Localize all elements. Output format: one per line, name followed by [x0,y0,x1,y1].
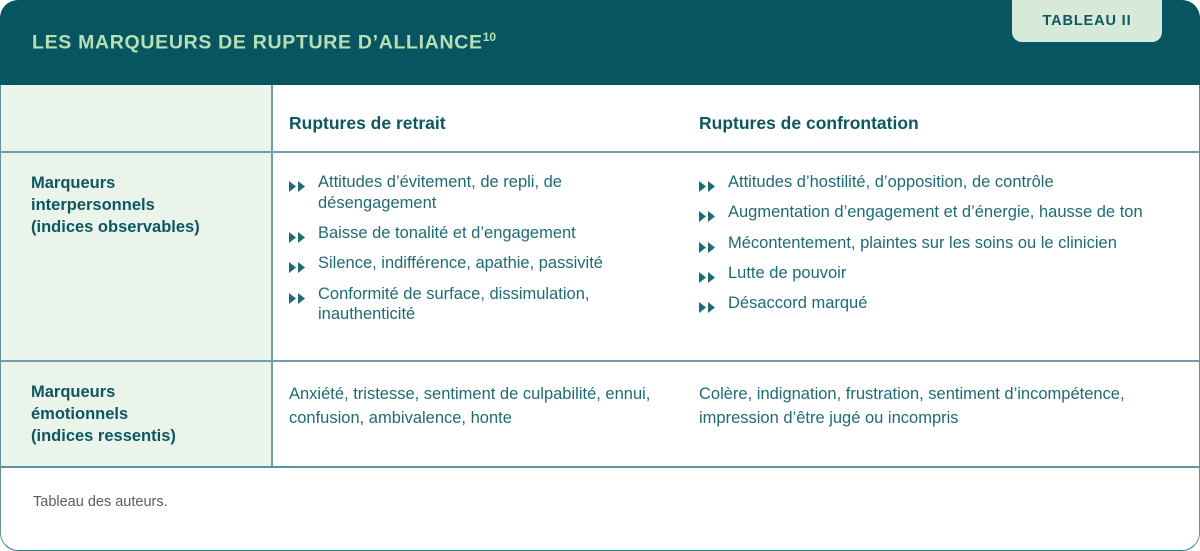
table-row: Marqueurs interpersonnels (indices obser… [1,151,1199,360]
list-item-text: Augmentation d’engagement et d’énergie, … [728,203,1143,221]
list-item-text: Mécontentement, plaintes sur les soins o… [728,234,1117,252]
double-chevron-right-icon [699,298,718,309]
list-item: Désaccord marqué [699,293,1183,314]
bullet-list-confrontation: Attitudes d’hostilité, d’opposition, de … [681,172,1200,314]
double-chevron-right-icon [699,177,718,188]
table-number-badge-label: TABLEAU II [1043,13,1132,29]
list-item-text: Lutte de pouvoir [728,264,846,282]
list-item: Attitudes d’évitement, de repli, de dése… [289,172,663,214]
list-item-text: Attitudes d’évitement, de repli, de dése… [318,173,562,212]
bullet-list-retrait: Attitudes d’évitement, de repli, de dése… [271,172,681,325]
list-item: Lutte de pouvoir [699,263,1183,284]
row-label-line: interpersonnels [31,195,271,217]
table-grid: Ruptures de retrait Ruptures de confront… [1,85,1199,550]
source-note: Tableau des auteurs. [33,494,168,510]
list-item-text: Désaccord marqué [728,294,867,312]
row-label-emotionnels: Marqueurs émotionnels (indices ressentis… [1,382,271,447]
table-title-text: LES MARQUEURS DE RUPTURE D’ALLIANCE [32,32,483,54]
double-chevron-right-icon [699,207,718,218]
table-body: Ruptures de retrait Ruptures de confront… [0,85,1200,551]
table-number-badge: TABLEAU II [1012,0,1162,42]
vertical-divider-row2 [271,362,273,466]
vertical-divider-row1 [271,153,273,360]
table-title-footnote-marker: 10 [483,30,496,44]
list-item-text: Silence, indifférence, apathie, passivit… [318,254,603,272]
table-row: Marqueurs émotionnels (indices ressentis… [1,360,1199,466]
row-label-line: émotionnels [31,404,271,426]
cell-interpersonnels-retrait: Attitudes d’évitement, de repli, de dése… [271,172,681,325]
row-label-line: (indices observables) [31,217,271,239]
cell-emotionnels-confrontation: Colère, indignation, frustration, sentim… [681,382,1200,431]
column-header-confrontation: Ruptures de confrontation [681,115,1200,133]
vertical-divider-header [271,85,273,151]
table-figure: TABLEAU II LES MARQUEURS DE RUPTURE D’AL… [0,0,1200,551]
double-chevron-right-icon [699,238,718,249]
column-header-retrait: Ruptures de retrait [271,115,681,133]
list-item-text: Conformité de surface, dissimulation, in… [318,285,589,324]
row-label-line: (indices ressentis) [31,426,271,448]
table-title: LES MARQUEURS DE RUPTURE D’ALLIANCE10 [32,30,496,55]
cell-emotionnels-retrait: Anxiété, tristesse, sentiment de culpabi… [271,382,681,431]
list-item: Baisse de tonalité et d’engagement [289,223,663,244]
double-chevron-right-icon [699,268,718,279]
double-chevron-right-icon [289,228,308,239]
row-label-interpersonnels: Marqueurs interpersonnels (indices obser… [1,173,271,238]
row-label-line: Marqueurs [31,382,271,404]
double-chevron-right-icon [289,177,308,188]
list-item-text: Attitudes d’hostilité, d’opposition, de … [728,173,1054,191]
cell-interpersonnels-confrontation: Attitudes d’hostilité, d’opposition, de … [681,172,1200,314]
row-label-line: Marqueurs [31,173,271,195]
list-item: Conformité de surface, dissimulation, in… [289,284,663,326]
double-chevron-right-icon [289,289,308,300]
list-item: Attitudes d’hostilité, d’opposition, de … [699,172,1183,193]
table-header-row: Ruptures de retrait Ruptures de confront… [1,85,1199,151]
list-item: Silence, indifférence, apathie, passivit… [289,253,663,274]
list-item: Mécontentement, plaintes sur les soins o… [699,233,1183,254]
list-item-text: Baisse de tonalité et d’engagement [318,224,576,242]
list-item: Augmentation d’engagement et d’énergie, … [699,202,1183,223]
table-source-row: Tableau des auteurs. [1,466,1199,549]
double-chevron-right-icon [289,258,308,269]
